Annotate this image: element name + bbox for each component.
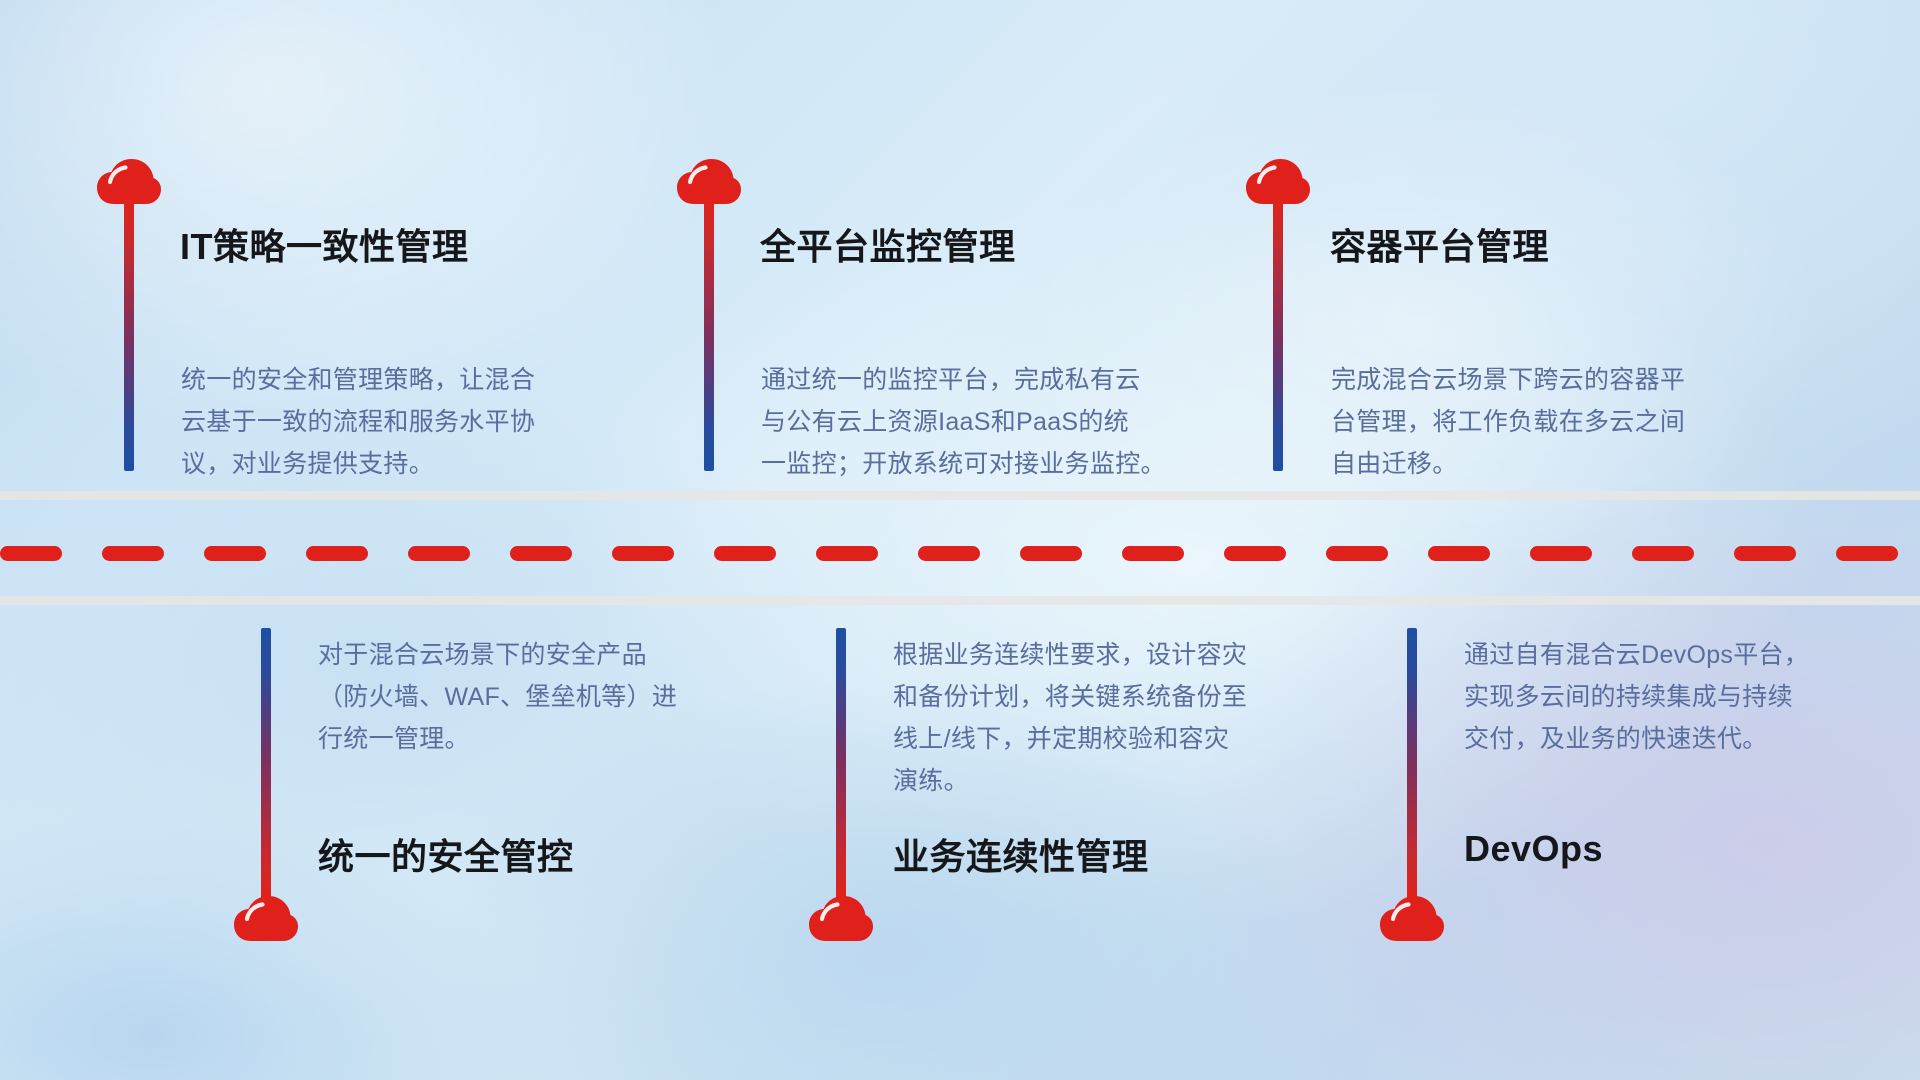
connector-line bbox=[704, 196, 714, 471]
dash-segment bbox=[102, 546, 164, 561]
dash-segment bbox=[1632, 546, 1694, 561]
dash-segment bbox=[1530, 546, 1592, 561]
feature-description: 通过统一的监控平台，完成私有云 与公有云上资源IaaS和PaaS的统 一监控；开… bbox=[761, 359, 1211, 485]
dash-segment bbox=[1020, 546, 1082, 561]
dash-segment bbox=[306, 546, 368, 561]
dash-segment bbox=[816, 546, 878, 561]
dash-segment bbox=[714, 546, 776, 561]
connector-line bbox=[261, 628, 271, 903]
feature-title: IT策略一致性管理 bbox=[180, 218, 469, 270]
feature-title: 全平台监控管理 bbox=[760, 218, 1016, 270]
divider-rule-top bbox=[0, 491, 1920, 500]
feature-description: 统一的安全和管理策略，让混合 云基于一致的流程和服务水平协 议，对业务提供支持。 bbox=[181, 359, 611, 485]
connector-line bbox=[124, 196, 134, 471]
feature-title: 容器平台管理 bbox=[1330, 218, 1549, 270]
dash-segment bbox=[1734, 546, 1796, 561]
dash-segment bbox=[1836, 546, 1898, 561]
feature-title: 统一的安全管控 bbox=[318, 828, 574, 880]
dash-segment bbox=[510, 546, 572, 561]
dashed-separator bbox=[0, 545, 1920, 561]
cloud-icon bbox=[808, 895, 874, 943]
dash-segment bbox=[204, 546, 266, 561]
connector-line bbox=[1273, 196, 1283, 471]
cloud-icon bbox=[233, 895, 299, 943]
cloud-icon bbox=[1379, 895, 1445, 943]
dash-segment bbox=[918, 546, 980, 561]
dash-segment bbox=[408, 546, 470, 561]
dash-segment bbox=[1224, 546, 1286, 561]
connector-line bbox=[1407, 628, 1417, 903]
dash-segment bbox=[1122, 546, 1184, 561]
connector-line bbox=[836, 628, 846, 903]
feature-description: 完成混合云场景下跨云的容器平 台管理，将工作负载在多云之间 自由迁移。 bbox=[1331, 359, 1771, 485]
feature-description: 通过自有混合云DevOps平台， 实现多云间的持续集成与持续 交付，及业务的快速… bbox=[1464, 634, 1884, 760]
feature-title: 业务连续性管理 bbox=[893, 828, 1149, 880]
dash-segment bbox=[1326, 546, 1388, 561]
dash-segment bbox=[0, 546, 62, 561]
dash-segment bbox=[1428, 546, 1490, 561]
feature-title: DevOps bbox=[1464, 828, 1603, 870]
divider-rule-bottom bbox=[0, 596, 1920, 605]
dash-segment bbox=[612, 546, 674, 561]
feature-description: 根据业务连续性要求，设计容灾 和备份计划，将关键系统备份至 线上/线下，并定期校… bbox=[893, 634, 1333, 802]
feature-description: 对于混合云场景下的安全产品 （防火墙、WAF、堡垒机等）进 行统一管理。 bbox=[318, 634, 748, 760]
